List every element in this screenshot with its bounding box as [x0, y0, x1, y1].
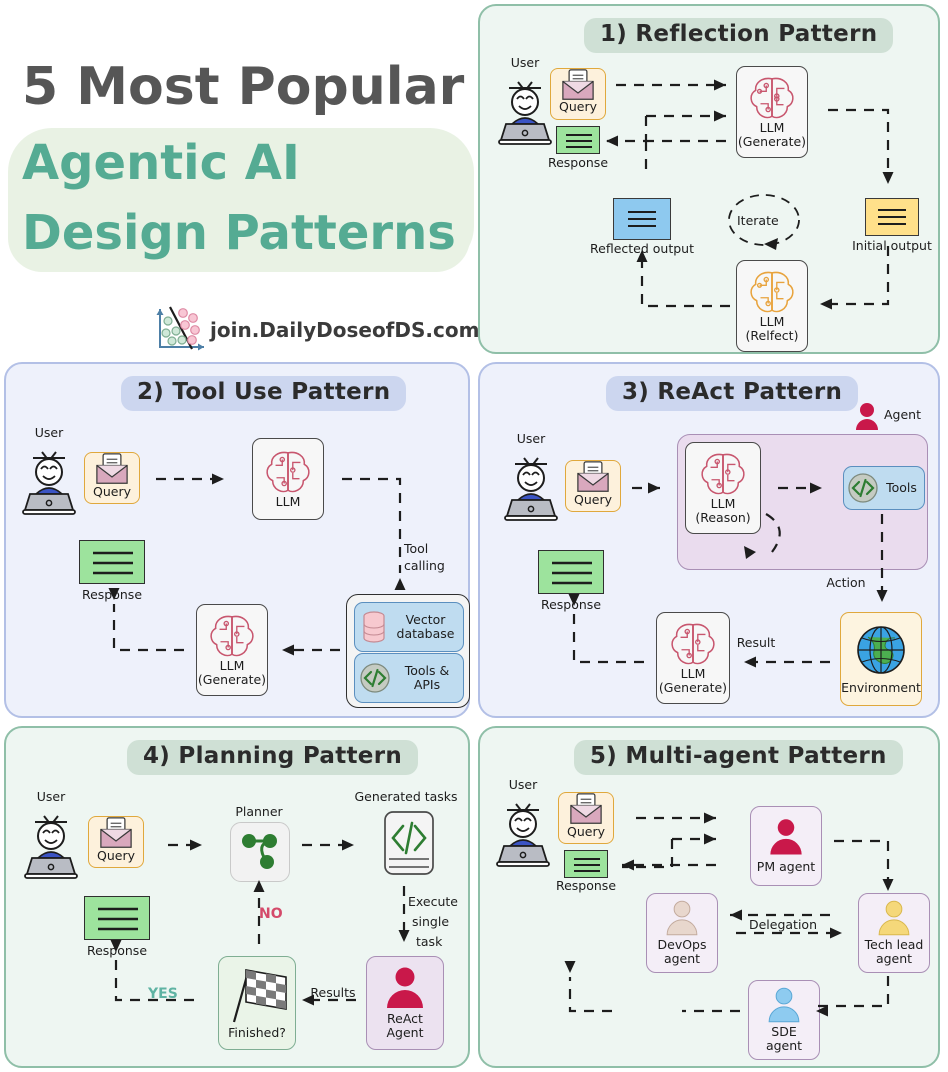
query-tile[interactable]: Query	[565, 460, 621, 512]
devops-label-1: DevOps	[658, 938, 707, 952]
user-stick-figure-icon	[20, 806, 82, 882]
agent-person-icon	[854, 402, 880, 432]
execute-label-1: Execute	[408, 895, 478, 909]
vector-database-item[interactable]: Vector database	[354, 602, 464, 652]
panel-planning: 4) Planning Pattern User Que	[4, 726, 470, 1068]
initial-output-label: Initial output	[844, 239, 940, 253]
panel-react: 3) ReAct Pattern Agent User	[478, 362, 940, 718]
action-label: Action	[818, 576, 874, 590]
agent-person-icon	[766, 818, 806, 858]
code-book-icon	[381, 810, 437, 876]
planner-label: Planner	[219, 805, 299, 819]
no-label: NO	[259, 906, 283, 922]
llm-brain-circuit-icon	[698, 451, 748, 497]
llm-generate-label-1: LLM	[760, 121, 785, 135]
llm-reflect-label-2: (Relfect)	[746, 329, 799, 343]
query-tile[interactable]: Query	[88, 816, 144, 868]
sde-label-2: agent	[766, 1039, 802, 1053]
user-label: User	[490, 56, 560, 70]
agent-person-icon	[875, 900, 913, 938]
response-tile-planning[interactable]	[84, 896, 150, 940]
user-stick-figure-icon	[500, 448, 562, 524]
reflected-output-tile[interactable]	[613, 198, 671, 240]
response-tile[interactable]	[556, 126, 600, 154]
response-tile[interactable]	[79, 540, 145, 584]
scatter-plot-icon	[152, 303, 208, 355]
llm-reflect-node[interactable]: LLM (Relfect)	[736, 260, 808, 352]
response-label: Response	[531, 598, 611, 612]
database-cylinder-icon	[360, 610, 388, 644]
reflected-output-label: Reflected output	[586, 242, 698, 256]
panel-tool-use: 2) Tool Use Pattern User Que	[4, 362, 470, 718]
tool-calling-label-2: calling	[404, 559, 464, 573]
tools-apis-item[interactable]: Tools & APIs	[354, 653, 464, 703]
tools-container: Vector database Tools & APIs	[346, 594, 470, 708]
query-tile[interactable]: Query	[558, 792, 614, 844]
environment-label: Environment	[841, 681, 921, 695]
user-label: User	[16, 790, 86, 804]
query-envelope-icon	[92, 453, 132, 485]
reflected-output-document-icon	[614, 199, 670, 239]
page-title-line1: 5 Most Popular	[22, 57, 464, 117]
query-envelope-icon	[573, 461, 613, 493]
panel-title-multi-agent: 5) Multi-agent Pattern	[574, 740, 903, 775]
llm-brain-circuit-icon	[747, 75, 797, 121]
panel-title-reflection: 1) Reflection Pattern	[584, 18, 893, 53]
response-label: Response	[544, 879, 628, 893]
generated-tasks-label: Generated tasks	[346, 790, 466, 804]
initial-output-tile[interactable]	[865, 198, 919, 236]
tool-calling-label-1: Tool	[404, 542, 464, 556]
code-brackets-icon	[359, 662, 391, 694]
iterate-label: Iterate	[737, 213, 779, 228]
response-label: Response	[72, 588, 152, 602]
panel-title-react: 3) ReAct Pattern	[606, 376, 858, 411]
query-envelope-icon	[558, 69, 598, 101]
query-tile[interactable]: Query	[550, 68, 606, 120]
execute-label-2: single	[412, 915, 482, 929]
query-envelope-icon	[96, 817, 136, 849]
infographic-page: 5 Most Popular Agentic AI Design Pattern…	[0, 0, 948, 1072]
query-label: Query	[93, 485, 131, 499]
sde-label-1: SDE	[771, 1025, 796, 1039]
query-envelope-icon	[566, 793, 606, 825]
tech-lead-label-1: Tech lead	[865, 938, 924, 952]
planner-graph-icon	[237, 829, 283, 875]
user-label: User	[14, 426, 84, 440]
panel-title-tool-use: 2) Tool Use Pattern	[121, 376, 406, 411]
page-title-line2: Agentic AI	[22, 135, 300, 191]
code-brackets-icon	[847, 472, 879, 504]
panel-title-planning: 4) Planning Pattern	[127, 740, 418, 775]
llm-generate-label-1: LLM	[220, 659, 245, 673]
query-label: Query	[559, 100, 597, 114]
user-label: User	[488, 778, 558, 792]
llm-brain-circuit-icon	[263, 449, 313, 495]
llm-reflect-label-1: LLM	[760, 315, 785, 329]
tools-apis-label-2: APIs	[391, 678, 463, 692]
llm-brain-circuit-icon	[747, 269, 797, 315]
agent-person-icon	[382, 966, 428, 1012]
response-document-icon	[557, 127, 601, 155]
llm-generate-node[interactable]: LLM (Generate)	[656, 612, 730, 704]
agent-label: Agent	[884, 408, 934, 422]
vector-db-label-2: database	[388, 627, 463, 641]
response-document-icon	[539, 551, 605, 595]
globe-icon	[854, 623, 908, 677]
agent-person-icon	[663, 900, 701, 938]
tools-node[interactable]: Tools	[843, 466, 925, 510]
page-title-line3: Design Patterns	[22, 205, 456, 261]
llm-brain-circuit-icon	[207, 613, 257, 659]
planner-node[interactable]	[230, 822, 290, 882]
execute-label-3: task	[416, 935, 486, 949]
response-document-icon	[85, 897, 151, 941]
finished-label: Finished?	[228, 1026, 286, 1040]
pm-agent-node[interactable]: PM agent	[750, 806, 822, 886]
llm-reason-node[interactable]: LLM (Reason)	[685, 442, 761, 534]
devops-label-2: agent	[664, 952, 700, 966]
query-label: Query	[97, 849, 135, 863]
react-agent-node[interactable]: ReAct Agent	[366, 956, 444, 1050]
delegation-label: Delegation	[728, 918, 838, 932]
response-tile[interactable]	[564, 850, 608, 878]
llm-brain-circuit-icon	[668, 621, 718, 667]
llm-node[interactable]: LLM	[252, 438, 324, 520]
llm-generate-label-2: (Generate)	[659, 681, 727, 695]
react-agent-label-1: ReAct	[387, 1012, 423, 1026]
query-label: Query	[567, 825, 605, 839]
llm-generate-label-2: (Generate)	[198, 673, 266, 687]
response-document-icon	[565, 851, 609, 879]
finished-box[interactable]: Finished?	[218, 956, 296, 1050]
llm-generate-node[interactable]: LLM (Generate)	[736, 66, 808, 158]
response-label: Response	[538, 156, 618, 170]
sde-agent-node[interactable]: SDE agent	[748, 980, 820, 1060]
user-stick-figure-icon	[492, 794, 554, 870]
agent-person-icon	[765, 987, 803, 1025]
brand-url: join.DailyDoseofDS.com	[210, 318, 479, 342]
environment-node[interactable]: Environment	[840, 612, 922, 706]
llm-generate-label-2: (Generate)	[738, 135, 806, 149]
user-label: User	[496, 432, 566, 446]
devops-agent-node[interactable]: DevOps agent	[646, 893, 718, 973]
llm-reason-label-2: (Reason)	[695, 511, 750, 525]
llm-reason-label-1: LLM	[711, 497, 736, 511]
tools-apis-label-1: Tools &	[391, 664, 463, 678]
response-label: Response	[77, 944, 157, 958]
result-label: Result	[728, 636, 784, 650]
pm-agent-label: PM agent	[757, 860, 815, 874]
panel-reflection: 1) Reflection Pattern User	[478, 4, 940, 354]
panel-multi-agent: 5) Multi-agent Pattern User	[478, 726, 940, 1068]
tech-lead-label-2: agent	[876, 952, 912, 966]
react-agent-label-2: Agent	[387, 1026, 424, 1040]
user-stick-figure-icon	[18, 442, 80, 518]
query-tile[interactable]: Query	[84, 452, 140, 504]
llm-generate-node[interactable]: LLM (Generate)	[196, 604, 268, 696]
query-label: Query	[574, 493, 612, 507]
tools-label: Tools	[879, 481, 924, 495]
llm-label: LLM	[276, 495, 301, 509]
response-tile[interactable]	[538, 550, 604, 594]
results-label: Results	[300, 986, 366, 1000]
user-stick-figure-icon	[494, 72, 556, 148]
generated-tasks-node[interactable]	[381, 810, 437, 876]
yes-label: YES	[148, 986, 178, 1002]
vector-db-label-1: Vector	[388, 613, 463, 627]
initial-output-document-icon	[866, 199, 918, 235]
checkered-flag-icon	[226, 966, 288, 1024]
llm-generate-label-1: LLM	[681, 667, 706, 681]
tech-lead-agent-node[interactable]: Tech lead agent	[858, 893, 930, 973]
response-document-icon	[80, 541, 146, 585]
